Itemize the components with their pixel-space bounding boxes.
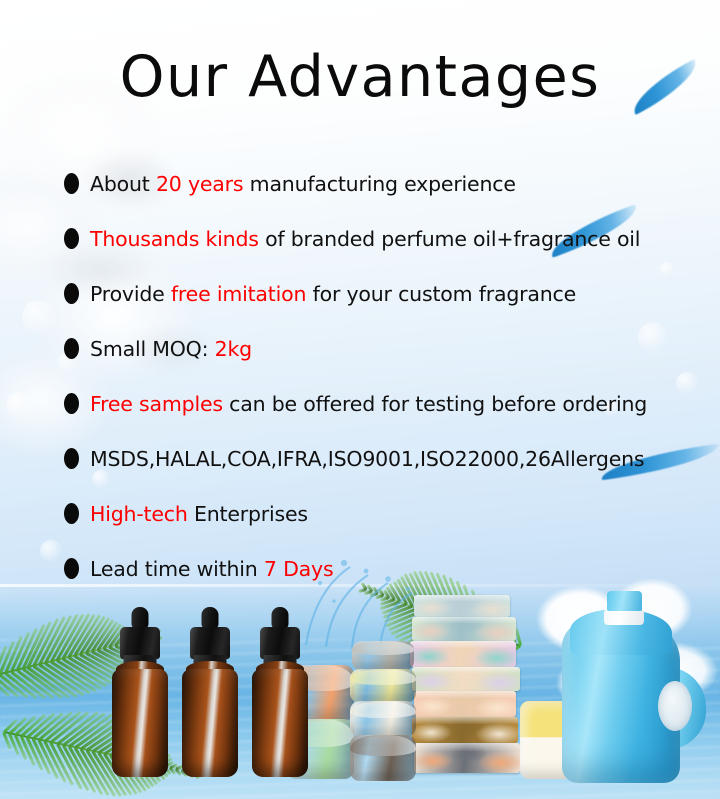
bullet-marker-icon	[64, 228, 79, 249]
plain-text: About	[90, 172, 156, 196]
soap-puck-top	[350, 735, 416, 756]
marbled-soap-bar-3	[410, 641, 516, 667]
bullet-marker-icon	[64, 283, 79, 304]
amber-glass-body	[112, 669, 168, 777]
advantage-item-1: About 20 years manufacturing experience	[64, 156, 664, 211]
highlight-text: Free samples	[90, 392, 223, 416]
advantages-poster: Our Advantages About 20 years manufactur…	[0, 0, 720, 799]
advantages-list: About 20 years manufacturing experienceT…	[64, 156, 664, 596]
soap-puck-top	[350, 669, 416, 685]
advantage-item-5: Free samples can be offered for testing …	[64, 376, 664, 431]
advantage-item-text: Small MOQ: 2kg	[90, 337, 252, 361]
bokeh-circle-1	[22, 300, 56, 334]
bullet-marker-icon	[64, 393, 79, 414]
dropper-rubber-teat	[202, 607, 219, 629]
marbled-soap-bar-4	[412, 667, 520, 691]
advantage-item-text: Free samples can be offered for testing …	[90, 392, 647, 416]
bokeh-circle-3	[6, 392, 32, 418]
amber-dropper-bottle-3	[252, 607, 308, 777]
advantage-item-text: Provide free imitation for your custom f…	[90, 282, 576, 306]
soap-puck-yellow	[350, 669, 416, 703]
jug-cap	[607, 591, 642, 611]
advantage-item-2: Thousands kinds of branded perfume oil+f…	[64, 211, 664, 266]
plain-text: of branded perfume oil+fragrance oil	[259, 227, 641, 251]
advantage-item-text: Thousands kinds of branded perfume oil+f…	[90, 227, 640, 251]
plain-text: can be offered for testing before orderi…	[223, 392, 647, 416]
blue-detergent-jug	[562, 587, 702, 783]
oatmeal-soap-bar	[412, 717, 518, 743]
bullet-marker-icon	[64, 448, 79, 469]
advantage-item-3: Provide free imitation for your custom f…	[64, 266, 664, 321]
soap-bar-top-edge	[412, 617, 516, 623]
soap-puck-cream	[350, 701, 416, 737]
product-photo-strip	[0, 549, 720, 799]
highlight-text: 2kg	[215, 337, 252, 361]
advantage-item-6: MSDS,HALAL,COA,IFRA,ISO9001,ISO22000,26A…	[64, 431, 664, 486]
plain-text: MSDS,HALAL,COA,IFRA,ISO9001,ISO22000,26A…	[90, 447, 644, 471]
soap-bar-top-edge	[412, 717, 518, 724]
highlight-text: 20 years	[156, 172, 243, 196]
advantage-item-text: MSDS,HALAL,COA,IFRA,ISO9001,ISO22000,26A…	[90, 447, 644, 471]
amber-dropper-bottle-1	[112, 607, 168, 777]
soap-puck-grey	[352, 641, 414, 671]
jug-handle-hole	[658, 681, 692, 731]
advantage-item-text: About 20 years manufacturing experience	[90, 172, 516, 196]
marbled-soap-bar-5	[414, 691, 516, 717]
bullet-marker-icon	[64, 173, 79, 194]
bullet-marker-icon	[64, 503, 79, 524]
advantage-item-text: High-tech Enterprises	[90, 502, 308, 526]
soap-bar-top-edge	[412, 667, 520, 673]
highlight-text: High-tech	[90, 502, 188, 526]
advantage-item-4: Small MOQ: 2kg	[64, 321, 664, 376]
dropper-rubber-teat	[132, 607, 149, 629]
soap-puck-top	[350, 701, 416, 718]
highlight-text: Thousands kinds	[90, 227, 259, 251]
advantage-item-7: High-tech Enterprises	[64, 486, 664, 541]
bullet-marker-icon	[64, 338, 79, 359]
page-title: Our Advantages	[0, 46, 720, 108]
highlight-text: free imitation	[171, 282, 306, 306]
plain-text: for your custom fragrance	[306, 282, 576, 306]
soap-bar-top-edge	[410, 641, 516, 648]
marbled-soap-bar-2	[412, 617, 516, 641]
soap-puck-brown	[350, 735, 416, 781]
amber-glass-body	[182, 669, 238, 777]
soap-bar-top-edge	[414, 743, 520, 751]
soap-bar-top-edge	[414, 691, 516, 698]
amber-glass-body	[252, 669, 308, 777]
soap-puck-top	[352, 641, 414, 655]
amber-dropper-bottle-2	[182, 607, 238, 777]
plain-text: Provide	[90, 282, 171, 306]
marbled-soap-bar-7	[414, 743, 520, 773]
jug-neck	[604, 609, 644, 625]
plain-text: Enterprises	[188, 502, 308, 526]
plain-text: manufacturing experience	[243, 172, 515, 196]
palm-frond-left-lower	[4, 729, 200, 774]
dropper-rubber-teat	[272, 607, 289, 629]
bokeh-circle-6	[676, 372, 698, 394]
plain-text: Small MOQ:	[90, 337, 215, 361]
soap-bar-top-edge	[414, 595, 510, 601]
marbled-soap-bar-1	[414, 595, 510, 617]
